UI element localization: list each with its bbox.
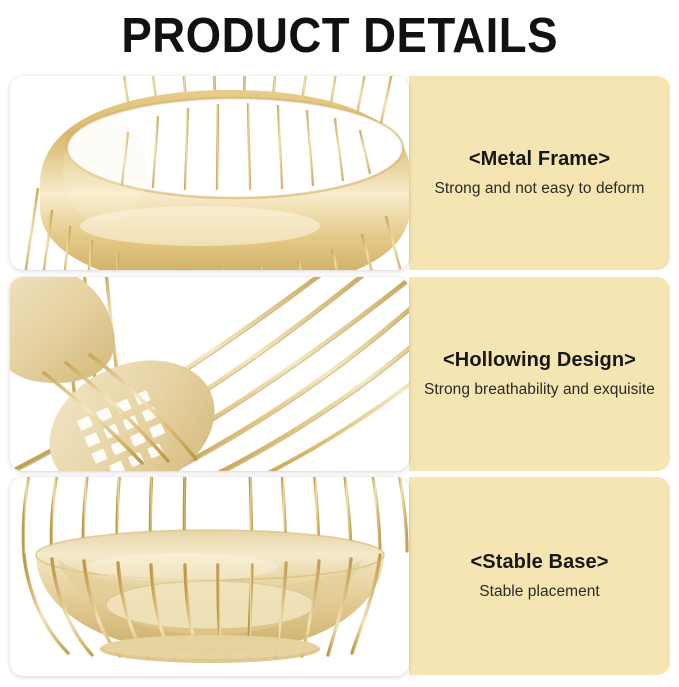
feature-subtext: Strong breathability and exquisite [424,381,655,399]
feature-heading: <Hollowing Design> [443,349,636,372]
basket-rim-photo [10,76,409,270]
feature-subtext: Stable placement [479,583,600,601]
feature-heading: <Stable Base> [470,551,608,574]
basket-base-photo [10,477,409,676]
feature-row-stable-base: <Stable Base> Stable placement [0,477,679,676]
feature-row-hollowing-design: <Hollowing Design> Strong breathability … [0,277,679,471]
product-details-infographic: PRODUCT DETAILS [0,0,679,687]
basket-base-illustration [10,477,409,676]
page-title: PRODUCT DETAILS [121,12,558,61]
title-bar: PRODUCT DETAILS [0,0,679,70]
basket-wires-illustration [10,277,409,471]
feature-text-card-hollowing-design: <Hollowing Design> Strong breathability … [409,277,670,471]
basket-wires-photo [10,277,409,471]
basket-rim-illustration [10,76,409,270]
feature-text-card-metal-frame: <Metal Frame> Strong and not easy to def… [409,76,670,270]
feature-row-metal-frame: <Metal Frame> Strong and not easy to def… [0,76,679,270]
feature-heading: <Metal Frame> [469,148,610,171]
feature-subtext: Strong and not easy to deform [435,180,645,198]
feature-text-card-stable-base: <Stable Base> Stable placement [409,477,670,675]
